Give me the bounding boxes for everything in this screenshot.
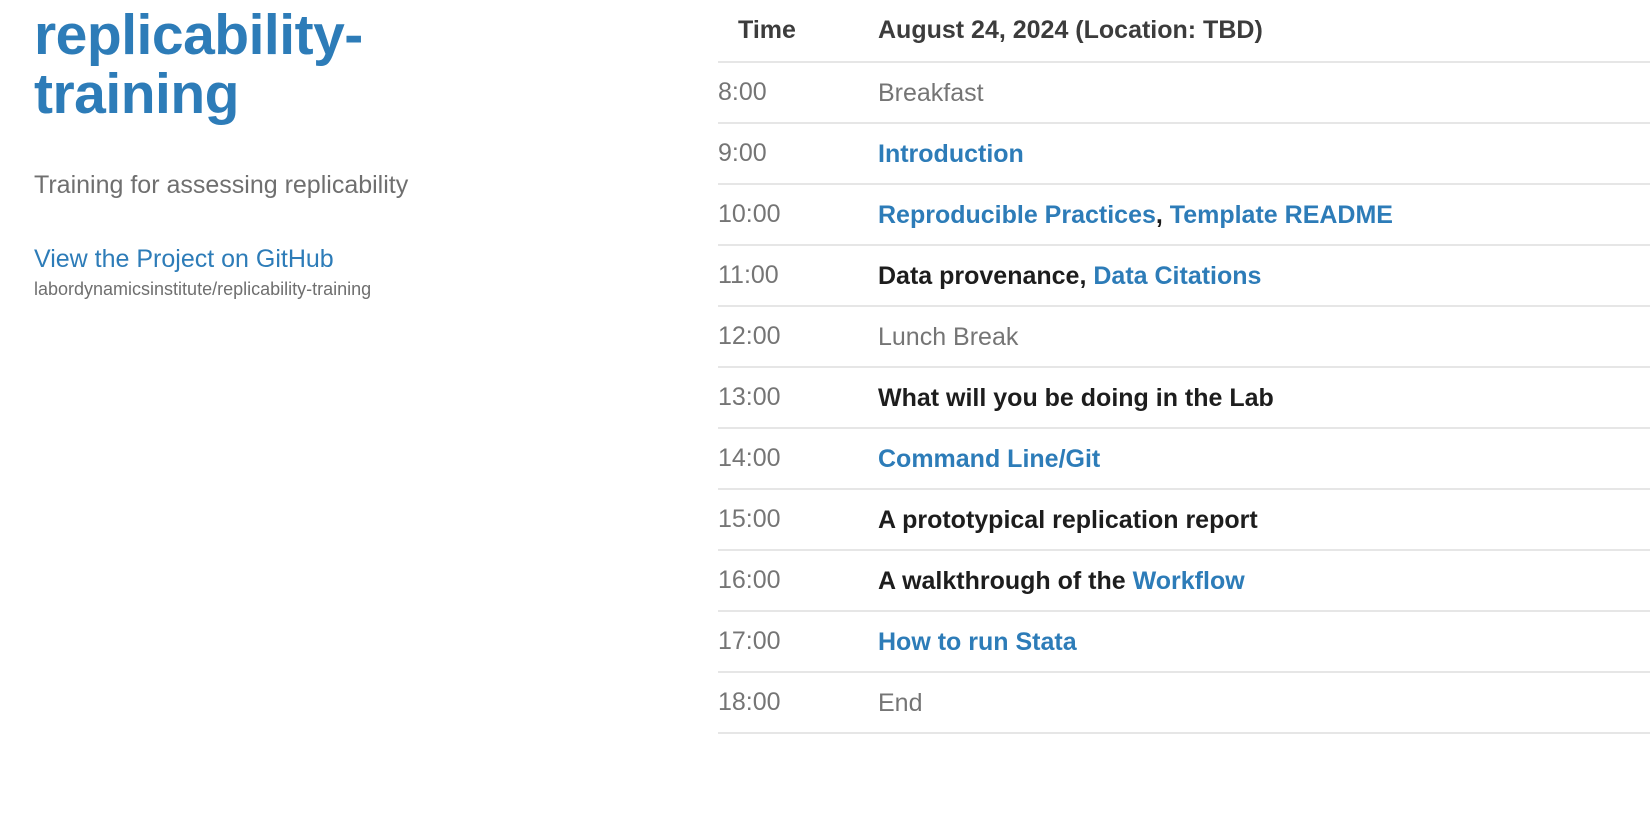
schedule-event-cell: Data provenance, Data Citations: [878, 245, 1650, 306]
schedule-table-head: Time August 24, 2024 (Location: TBD): [718, 0, 1650, 62]
schedule-session-text: End: [878, 689, 922, 717]
schedule-event-cell: Breakfast: [878, 62, 1650, 123]
schedule-session-text: A walkthrough of the: [878, 567, 1133, 595]
schedule-event-cell: How to run Stata: [878, 611, 1650, 672]
site-title: replicability-training: [34, 0, 394, 125]
schedule-row: 10:00Reproducible Practices, Template RE…: [718, 184, 1650, 245]
view-project-on-github-link[interactable]: View the Project on GitHub: [34, 244, 674, 274]
schedule-time-cell: 9:00: [718, 123, 878, 184]
schedule-row: 9:00Introduction: [718, 123, 1650, 184]
schedule-table: Time August 24, 2024 (Location: TBD) 8:0…: [718, 0, 1650, 734]
table-header-row: Time August 24, 2024 (Location: TBD): [718, 0, 1650, 62]
schedule-session-link[interactable]: Introduction: [878, 140, 1024, 168]
schedule-event-cell: End: [878, 672, 1650, 733]
schedule-row: 11:00Data provenance, Data Citations: [718, 245, 1650, 306]
column-header-time: Time: [718, 0, 878, 62]
schedule-time-cell: 12:00: [718, 306, 878, 367]
schedule-event-cell: Command Line/Git: [878, 428, 1650, 489]
schedule-row: 16:00A walkthrough of the Workflow: [718, 550, 1650, 611]
schedule-table-body: 8:00Breakfast9:00Introduction10:00Reprod…: [718, 62, 1650, 733]
schedule-event-cell: Introduction: [878, 123, 1650, 184]
schedule-row: 15:00A prototypical replication report: [718, 489, 1650, 550]
schedule-row: 14:00Command Line/Git: [718, 428, 1650, 489]
schedule-session-link[interactable]: Data Citations: [1093, 262, 1261, 290]
schedule-time-cell: 13:00: [718, 367, 878, 428]
schedule-event-cell: A prototypical replication report: [878, 489, 1650, 550]
schedule-time-cell: 16:00: [718, 550, 878, 611]
schedule-session-link[interactable]: Workflow: [1133, 567, 1245, 595]
schedule-time-cell: 10:00: [718, 184, 878, 245]
main-content: Time August 24, 2024 (Location: TBD) 8:0…: [718, 0, 1650, 734]
site-tagline: Training for assessing replicability: [34, 125, 674, 202]
schedule-time-cell: 17:00: [718, 611, 878, 672]
sidebar: replicability-training Training for asse…: [34, 0, 674, 301]
schedule-session-text: Data provenance: [878, 262, 1079, 290]
schedule-time-cell: 14:00: [718, 428, 878, 489]
schedule-row: 18:00End: [718, 672, 1650, 733]
repository-name: labordynamicsinstitute/replicability-tra…: [34, 274, 674, 301]
schedule-session-text: A prototypical replication report: [878, 506, 1258, 534]
schedule-text-separator: ,: [1156, 201, 1170, 229]
schedule-text-separator: ,: [1079, 262, 1093, 290]
schedule-session-link[interactable]: Template README: [1170, 201, 1393, 229]
schedule-time-cell: 11:00: [718, 245, 878, 306]
schedule-time-cell: 8:00: [718, 62, 878, 123]
schedule-session-link[interactable]: How to run Stata: [878, 628, 1077, 656]
schedule-row: 13:00What will you be doing in the Lab: [718, 367, 1650, 428]
schedule-session-text: Breakfast: [878, 79, 984, 107]
schedule-event-cell: A walkthrough of the Workflow: [878, 550, 1650, 611]
github-block: View the Project on GitHub labordynamics…: [34, 201, 674, 301]
schedule-event-cell: Lunch Break: [878, 306, 1650, 367]
schedule-row: 12:00Lunch Break: [718, 306, 1650, 367]
schedule-time-cell: 15:00: [718, 489, 878, 550]
page-root: replicability-training Training for asse…: [0, 0, 1650, 822]
column-header-event: August 24, 2024 (Location: TBD): [878, 0, 1650, 62]
schedule-session-link[interactable]: Command Line/Git: [878, 445, 1100, 473]
schedule-event-cell: What will you be doing in the Lab: [878, 367, 1650, 428]
schedule-event-cell: Reproducible Practices, Template README: [878, 184, 1650, 245]
schedule-time-cell: 18:00: [718, 672, 878, 733]
schedule-row: 17:00How to run Stata: [718, 611, 1650, 672]
schedule-row: 8:00Breakfast: [718, 62, 1650, 123]
schedule-session-link[interactable]: Reproducible Practices: [878, 201, 1156, 229]
schedule-session-text: Lunch Break: [878, 323, 1018, 351]
schedule-session-text: What will you be doing in the Lab: [878, 384, 1274, 412]
